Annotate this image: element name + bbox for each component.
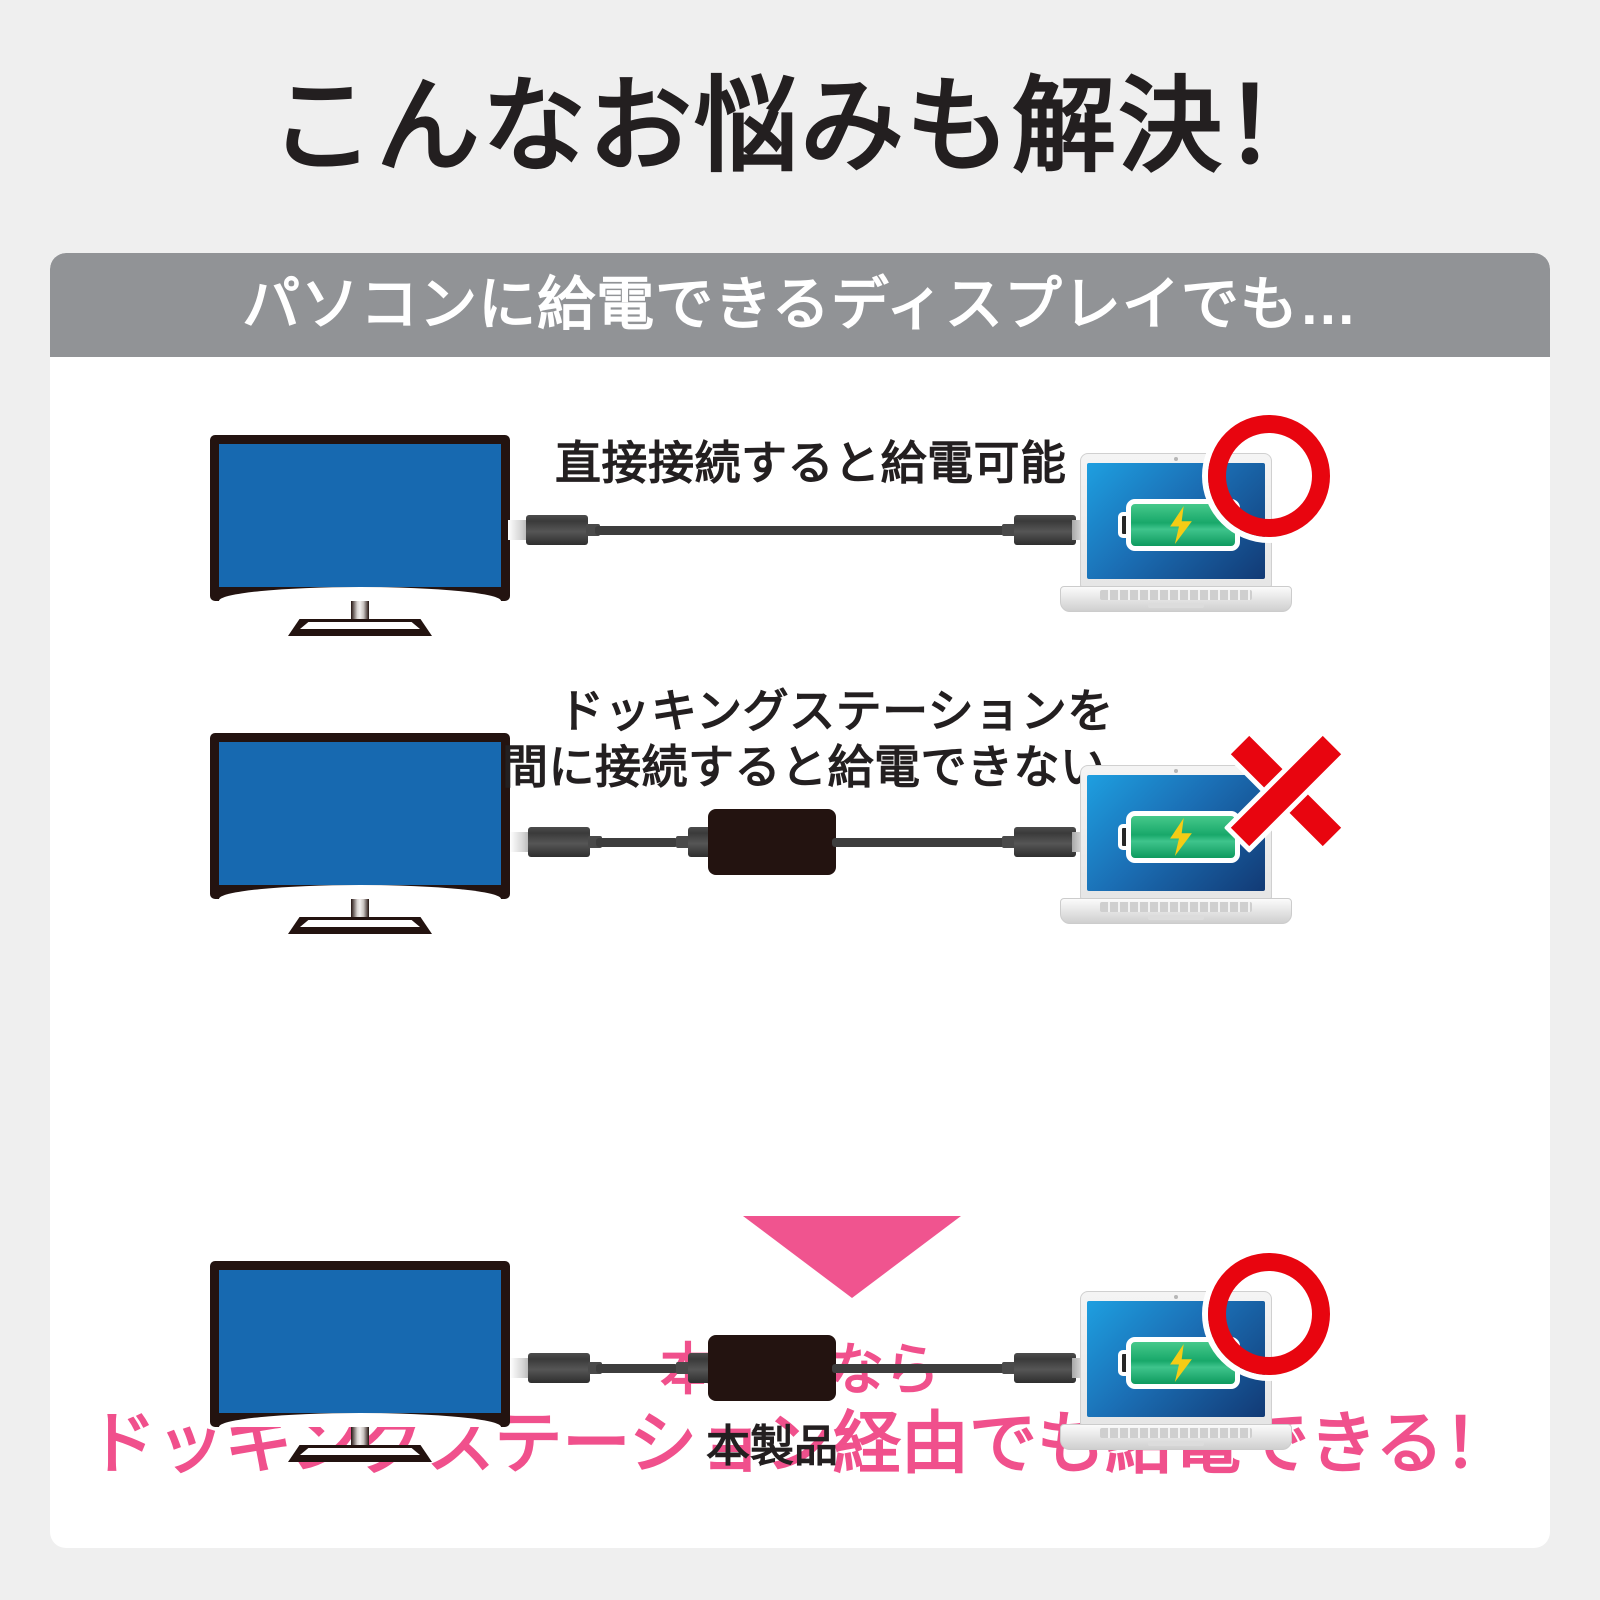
monitor-stand-base-inner xyxy=(300,1448,420,1455)
monitor-stand-neck xyxy=(351,1427,369,1448)
cable-connector-left xyxy=(508,515,608,545)
laptop-camera xyxy=(1174,457,1178,461)
monitor-screen xyxy=(219,742,501,885)
diagram-card: パソコンに給電できるディスプレイでも… 直接接続すると給電可能 xyxy=(50,253,1550,1548)
monitor-stand-base-inner xyxy=(300,920,420,927)
cable-wire xyxy=(596,1364,678,1373)
laptop-keyboard xyxy=(1100,902,1252,912)
laptop-trackpad xyxy=(1148,915,1204,920)
row2-caption-line1: ドッキングステーションを xyxy=(558,683,1114,739)
laptop-trackpad xyxy=(1148,1441,1204,1446)
cable-wire xyxy=(832,838,1010,847)
circle-ok-mark xyxy=(1208,415,1330,537)
docking-station xyxy=(708,809,836,875)
cross-ng-mark xyxy=(1220,725,1342,847)
monitor-stand-neck xyxy=(351,601,369,622)
card-header-title: パソコンに給電できるディスプレイでも… xyxy=(50,253,1550,357)
connector-body xyxy=(528,827,590,857)
monitor-screen xyxy=(219,444,501,587)
row1-caption: 直接接続すると給電可能 xyxy=(555,435,1067,491)
this-product-label: 本製品 xyxy=(700,1421,844,1473)
laptop-camera xyxy=(1174,1295,1178,1299)
cable-wire xyxy=(596,838,678,847)
monitor-display xyxy=(210,733,510,933)
cable-wire xyxy=(832,1364,1010,1373)
cable-connector-left xyxy=(510,1353,610,1383)
docking-station-this-product xyxy=(708,1335,836,1401)
monitor-screen xyxy=(219,1270,501,1413)
connector-body xyxy=(528,1353,590,1383)
laptop-keyboard xyxy=(1100,590,1252,600)
monitor-stand-base-inner xyxy=(300,622,420,629)
row-direct-connection: 直接接続すると給電可能 xyxy=(50,423,1550,643)
row-this-product-success: 本製品 xyxy=(50,1253,1550,1483)
monitor-display xyxy=(210,1261,510,1461)
circle-ok-mark xyxy=(1208,1253,1330,1375)
row2-caption-line2: 間に接続すると給電できない… xyxy=(502,739,1153,795)
laptop-camera xyxy=(1174,769,1178,773)
connector-body xyxy=(526,515,588,545)
row-dock-connection-fail: ドッキングステーションを 間に接続すると給電できない… xyxy=(50,683,1550,913)
laptop-keyboard xyxy=(1100,1428,1252,1438)
cable-connector-left xyxy=(510,827,610,857)
monitor-display xyxy=(210,435,510,635)
cable-wire xyxy=(595,526,1005,535)
page-title: こんなお悩みも解決！ xyxy=(0,62,1600,192)
monitor-stand-neck xyxy=(351,899,369,920)
laptop-trackpad xyxy=(1148,603,1204,608)
